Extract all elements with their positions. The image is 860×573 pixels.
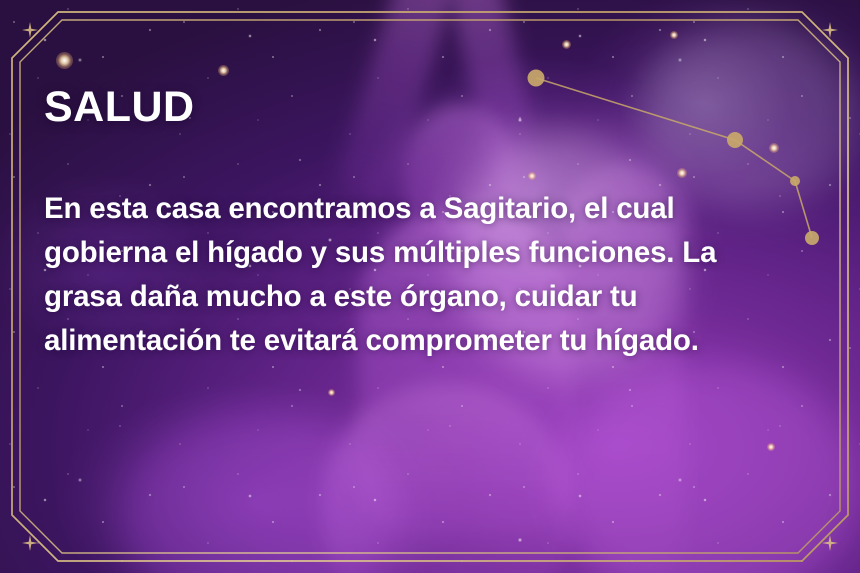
body-line-4: alimentación te evitará comprometer tu h…: [44, 319, 804, 363]
horoscope-card: SALUD En esta casa encontramos a Sagitar…: [0, 0, 860, 573]
bright-star-4: [670, 31, 678, 39]
bright-star-8: [767, 443, 775, 451]
page-title: SALUD: [44, 86, 804, 129]
bright-star-3: [562, 40, 571, 49]
body-paragraph: En esta casa encontramos a Sagitario, el…: [44, 187, 804, 363]
body-line-1: En esta casa encontramos a Sagitario, el…: [44, 187, 804, 231]
bright-star-2: [218, 65, 229, 76]
bright-star-1: [56, 52, 73, 69]
bright-star-9: [328, 389, 335, 396]
body-line-2: gobierna el hígado y sus múltiples funci…: [44, 231, 804, 275]
body-line-3: grasa daña mucho a este órgano, cuidar t…: [44, 275, 804, 319]
card-content: SALUD En esta casa encontramos a Sagitar…: [44, 86, 804, 363]
